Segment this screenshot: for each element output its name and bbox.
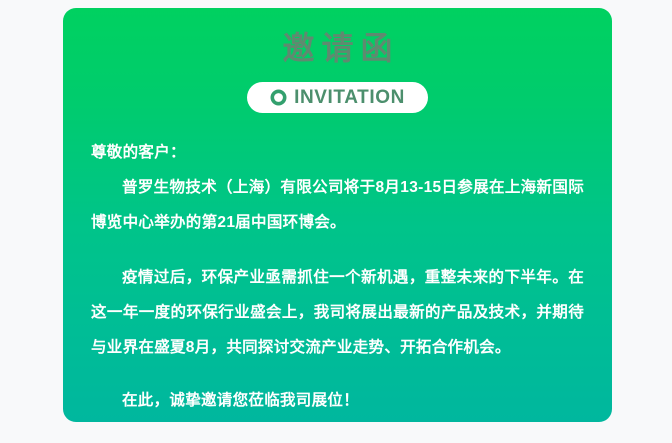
ring-circle-icon <box>270 89 287 106</box>
invitation-badge-label: INVITATION <box>294 88 405 107</box>
paragraph-spacer <box>91 365 584 383</box>
card-body: 尊敬的客户： 普罗生物技术（上海）有限公司将于8月13-15日参展在上海新国际博… <box>63 113 612 418</box>
body-paragraph-1: 普罗生物技术（上海）有限公司将于8月13-15日参展在上海新国际博览中心举办的第… <box>91 170 584 240</box>
body-paragraph-3: 在此，诚挚邀请您莅临我司展位！ <box>91 383 584 418</box>
paragraph-spacer <box>91 240 584 260</box>
invitation-badge: INVITATION <box>247 82 428 113</box>
page-title: 邀请函 <box>63 26 612 70</box>
invitation-card: 邀请函 INVITATION 尊敬的客户： 普罗生物技术（上海）有限公司将于8月… <box>63 8 612 422</box>
salutation-text: 尊敬的客户： <box>91 135 584 170</box>
card-header: 邀请函 INVITATION <box>63 8 612 113</box>
body-paragraph-2: 疫情过后，环保产业亟需抓住一个新机遇，重整未来的下半年。在这一年一度的环保行业盛… <box>91 260 584 365</box>
